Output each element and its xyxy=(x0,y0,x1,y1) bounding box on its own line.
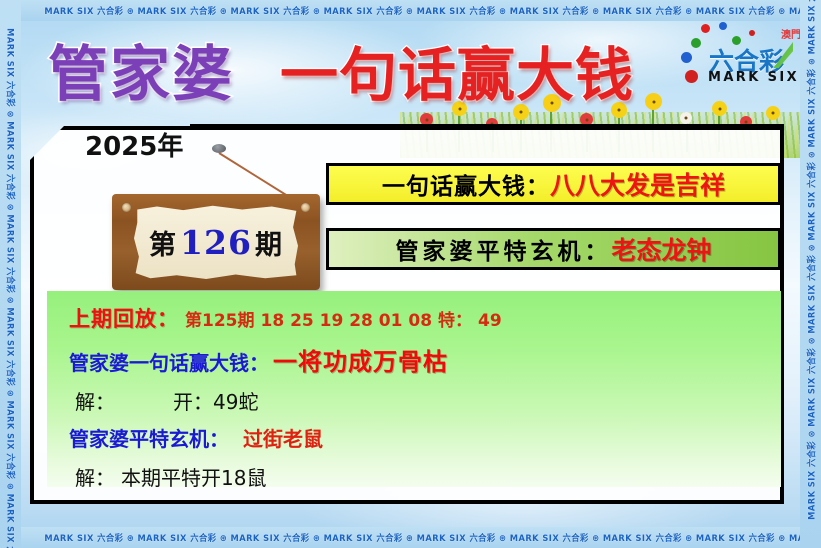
logo-dot xyxy=(681,52,692,63)
riddle-value: 过街老鼠 xyxy=(243,423,323,452)
banner-2-value: 老态龙钟 xyxy=(611,231,711,267)
phrase-answer-open-label: 开： xyxy=(173,386,213,415)
phrase-answer-label: 解： xyxy=(75,386,115,415)
phrase-value: 一将功成万骨枯 xyxy=(273,342,448,377)
logo-name-en: MARK SIX xyxy=(708,70,799,85)
border-right-text: MARK SIX 六合彩 ⊛ MARK SIX 六合彩 ⊛ MARK SIX 六… xyxy=(804,0,817,520)
border-top-text: MARK SIX 六合彩 ⊛ MARK SIX 六合彩 ⊛ MARK SIX 六… xyxy=(44,4,821,17)
phrase-label: 管家婆一句话赢大钱： xyxy=(69,347,269,376)
banner-riddle-prediction: 管家婆平特玄机：老态龙钟 xyxy=(326,228,781,270)
border-bottom-text: MARK SIX 六合彩 ⊛ MARK SIX 六合彩 ⊛ MARK SIX 六… xyxy=(44,531,821,544)
logo-dot xyxy=(685,70,698,83)
replay-issue: 第125期 xyxy=(185,306,255,331)
logo-dot xyxy=(719,22,727,30)
border-top: MARK SIX 六合彩 ⊛ MARK SIX 六合彩 ⊛ MARK SIX 六… xyxy=(0,0,821,21)
poster-brand-title: 管家婆 xyxy=(48,26,234,113)
year-label: 2025年 xyxy=(85,126,183,163)
border-left: MARK SIX 六合彩 ⊛ MARK SIX 六合彩 ⊛ MARK SIX 六… xyxy=(0,0,21,548)
issue-sign-paper: 第126期 xyxy=(134,205,298,279)
results-panel: 上期回放： 第125期 18 25 19 28 01 08 特： 49 管家婆一… xyxy=(47,291,781,487)
issue-suffix: 期 xyxy=(255,230,283,261)
banner-1-value: 八八大发是吉祥 xyxy=(550,166,725,202)
logo-region-label: 澳門 xyxy=(781,26,801,41)
mark-six-logo: 澳門 六合彩 MARK SIX xyxy=(679,22,803,96)
banner-phrase-prediction: 一句话赢大钱：八八大发是吉祥 xyxy=(326,163,781,205)
row-riddle-answer: 解： 本期平特开18鼠 xyxy=(75,462,781,491)
poster-slogan-title: 一句话赢大钱 xyxy=(280,28,634,112)
logo-dot xyxy=(749,30,755,36)
frame-top-edge xyxy=(190,124,784,128)
border-bottom: MARK SIX 六合彩 ⊛ MARK SIX 六合彩 ⊛ MARK SIX 六… xyxy=(0,527,821,548)
row-phrase: 管家婆一句话赢大钱： 一将功成万骨枯 xyxy=(69,342,781,377)
riddle-label: 管家婆平特玄机： xyxy=(69,423,229,452)
issue-sign-board: 第126期 xyxy=(112,194,320,290)
replay-special-label: 特： xyxy=(438,306,472,331)
lottery-poster: 管家婆 一句话赢大钱 澳門 六合彩 MARK SIX 2025年 第126期 一… xyxy=(0,0,821,548)
issue-prefix: 第 xyxy=(149,230,177,261)
replay-numbers: 18 25 19 28 01 08 xyxy=(261,311,433,331)
issue-number-text: 第126期 xyxy=(149,223,283,262)
banner-2-label: 管家婆平特玄机： xyxy=(395,232,611,266)
replay-label: 上期回放： xyxy=(69,303,179,333)
riddle-answer-label: 解： xyxy=(75,462,115,491)
border-left-text: MARK SIX 六合彩 ⊛ MARK SIX 六合彩 ⊛ MARK SIX 六… xyxy=(4,28,17,548)
row-riddle: 管家婆平特玄机： 过街老鼠 xyxy=(69,423,781,452)
phrase-answer-value: 49蛇 xyxy=(213,386,258,415)
riddle-answer-value: 本期平特开18鼠 xyxy=(121,462,266,491)
row-phrase-answer: 解： 开： 49蛇 xyxy=(75,386,781,415)
issue-number: 126 xyxy=(177,223,255,262)
replay-special: 49 xyxy=(478,311,502,331)
logo-dot xyxy=(691,38,701,48)
row-previous-draw: 上期回放： 第125期 18 25 19 28 01 08 特： 49 xyxy=(69,303,781,333)
logo-dot xyxy=(701,24,710,33)
border-right: MARK SIX 六合彩 ⊛ MARK SIX 六合彩 ⊛ MARK SIX 六… xyxy=(800,0,821,548)
banner-1-label: 一句话赢大钱： xyxy=(382,167,550,201)
